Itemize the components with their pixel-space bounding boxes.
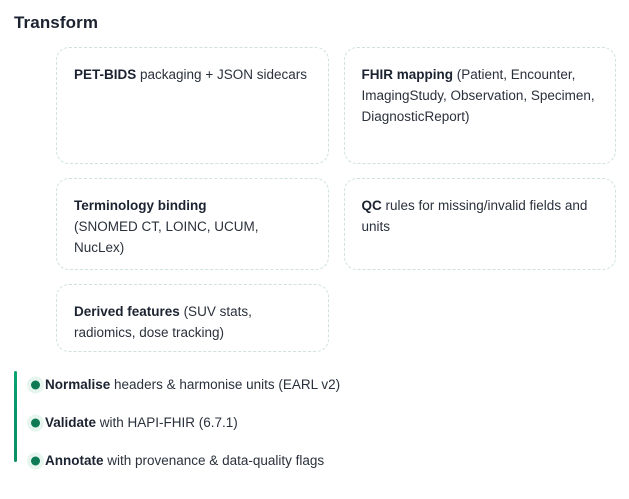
card-pet-bids-rest: packaging + JSON sidecars — [136, 67, 307, 82]
list-item-rest: with provenance & data-quality flags — [104, 453, 325, 468]
card-row-1: PET-BIDS packaging + JSON sidecars FHIR … — [56, 47, 616, 164]
card-derived-features: Derived features (SUV stats, radiomics, … — [56, 284, 329, 352]
list-item: Normalise headers & harmonise units (EAR… — [14, 366, 614, 404]
list-item-rest: headers & harmonise units (EARL v2) — [110, 377, 340, 392]
card-fhir-mapping: FHIR mapping (Patient, Encounter, Imagin… — [344, 47, 617, 164]
list-item-lead: Annotate — [45, 453, 104, 468]
card-pet-bids-lead: PET-BIDS — [74, 67, 136, 82]
card-row-3-empty-slot — [344, 284, 616, 352]
page-title: Transform — [14, 11, 98, 35]
list-item-text: Validate with HAPI-FHIR (6.7.1) — [45, 413, 238, 433]
list-item: Annotate with provenance & data-quality … — [14, 442, 614, 480]
card-qc-rules: QC rules for missing/invalid fields and … — [344, 178, 617, 270]
card-qc-rules-lead: QC — [362, 198, 382, 213]
bullet-dot-icon — [31, 457, 40, 466]
card-terminology-binding-lead: Terminology binding — [74, 198, 207, 213]
list-item: Validate with HAPI-FHIR (6.7.1) — [14, 404, 614, 442]
list-item-text: Normalise headers & harmonise units (EAR… — [45, 375, 340, 395]
list-item-rest: with HAPI-FHIR (6.7.1) — [96, 415, 238, 430]
list-item-text: Annotate with provenance & data-quality … — [45, 451, 324, 471]
card-grid: PET-BIDS packaging + JSON sidecars FHIR … — [56, 47, 616, 366]
card-terminology-binding: Terminology binding (SNOMED CT, LOINC, U… — [56, 178, 329, 270]
bullet-list: Normalise headers & harmonise units (EAR… — [14, 366, 614, 480]
bullet-block: Normalise headers & harmonise units (EAR… — [14, 366, 614, 480]
card-qc-rules-rest: rules for missing/invalid fields and uni… — [362, 198, 588, 234]
card-terminology-binding-rest: (SNOMED CT, LOINC, UCUM, NucLex) — [74, 219, 259, 255]
bullet-dot-icon — [31, 381, 40, 390]
card-fhir-mapping-lead: FHIR mapping — [362, 67, 454, 82]
list-item-lead: Normalise — [45, 377, 110, 392]
card-row-2: Terminology binding (SNOMED CT, LOINC, U… — [56, 178, 616, 270]
card-pet-bids: PET-BIDS packaging + JSON sidecars — [56, 47, 329, 164]
card-row-3: Derived features (SUV stats, radiomics, … — [56, 284, 616, 352]
bullet-dot-icon — [31, 419, 40, 428]
card-derived-features-lead: Derived features — [74, 304, 180, 319]
list-item-lead: Validate — [45, 415, 96, 430]
